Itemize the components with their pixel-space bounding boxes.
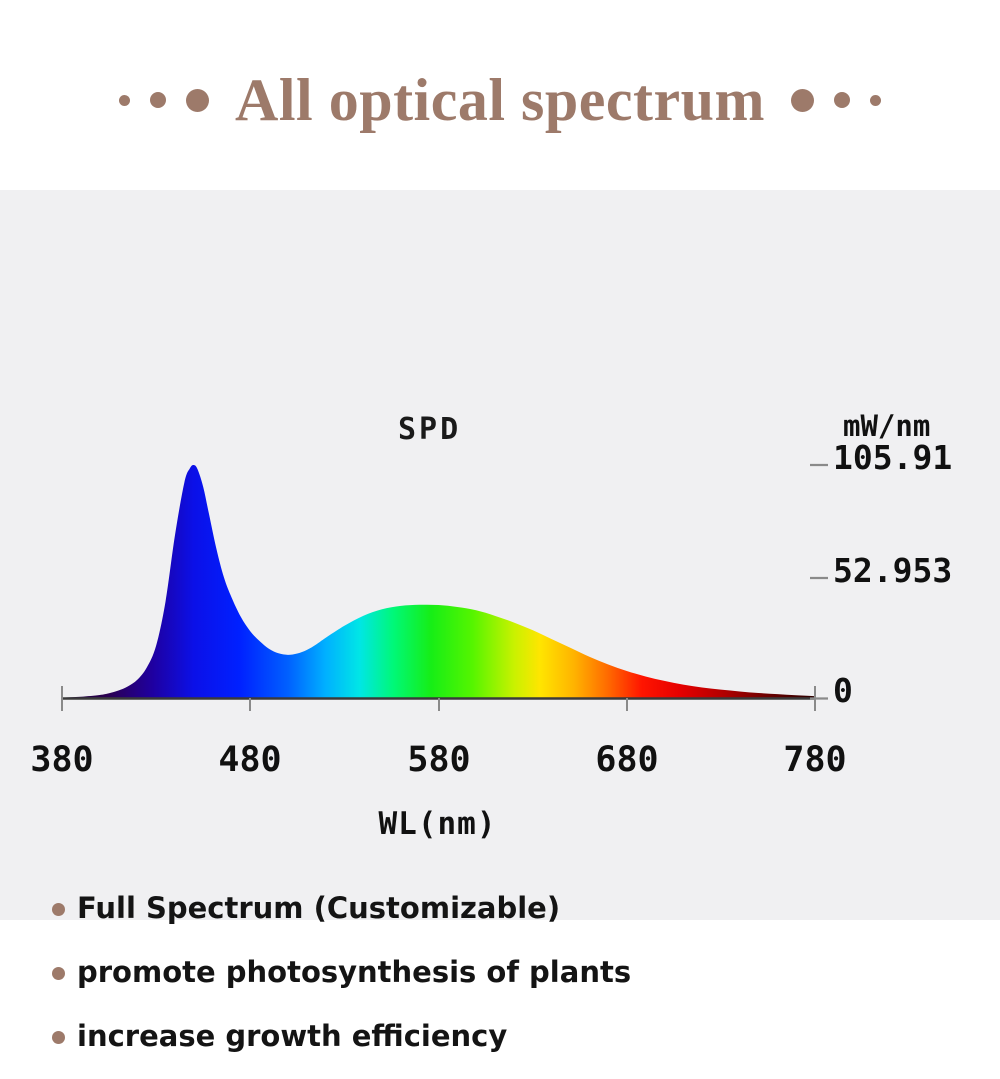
list-item: promote photosynthesis of plants	[52, 951, 932, 993]
spectrum-curve	[62, 465, 815, 699]
list-item-label: promote photosynthesis of plants	[77, 955, 631, 989]
page-title: All optical spectrum	[235, 70, 765, 130]
feature-list: Full Spectrum (Customizable) promote pho…	[52, 887, 932, 1079]
bullet-dot-icon	[52, 967, 65, 980]
decorative-dot-icon	[150, 92, 166, 108]
chart-title: SPD	[398, 412, 461, 447]
decorative-dot-icon	[834, 92, 850, 108]
content-panel: SPD mW/nm 0 52.953 105.91 380 480 580 68…	[0, 190, 1000, 920]
list-item: increase growth efficiency	[52, 1015, 932, 1057]
title-dots-right	[791, 89, 881, 112]
list-item-label: Full Spectrum (Customizable)	[77, 891, 560, 925]
x-tick-label-480: 480	[218, 743, 281, 778]
header-banner: All optical spectrum	[0, 0, 1000, 190]
x-tick-label-580: 580	[407, 743, 470, 778]
decorative-dot-icon	[119, 95, 130, 106]
x-tick-label-780: 780	[783, 743, 846, 778]
y-tick-label-2: 105.91	[833, 441, 952, 474]
decorative-dot-icon	[791, 89, 814, 112]
bullet-dot-icon	[52, 903, 65, 916]
y-tick-label-1: 52.953	[833, 554, 952, 587]
decorative-dot-icon	[186, 89, 209, 112]
spd-chart: SPD mW/nm 0 52.953 105.91 380 480 580 68…	[0, 190, 1000, 670]
x-tick-label-680: 680	[595, 743, 658, 778]
title-dots-left	[119, 89, 209, 112]
page-root: All optical spectrum	[0, 0, 1000, 1000]
list-item: Full Spectrum (Customizable)	[52, 887, 932, 929]
title-row: All optical spectrum	[119, 70, 881, 130]
x-tick-label-380: 380	[30, 743, 93, 778]
bullet-dot-icon	[52, 1031, 65, 1044]
decorative-dot-icon	[870, 95, 881, 106]
x-axis-title: WL(nm)	[0, 806, 875, 842]
y-tick-label-0: 0	[833, 674, 853, 707]
list-item-label: increase growth efficiency	[77, 1019, 507, 1053]
